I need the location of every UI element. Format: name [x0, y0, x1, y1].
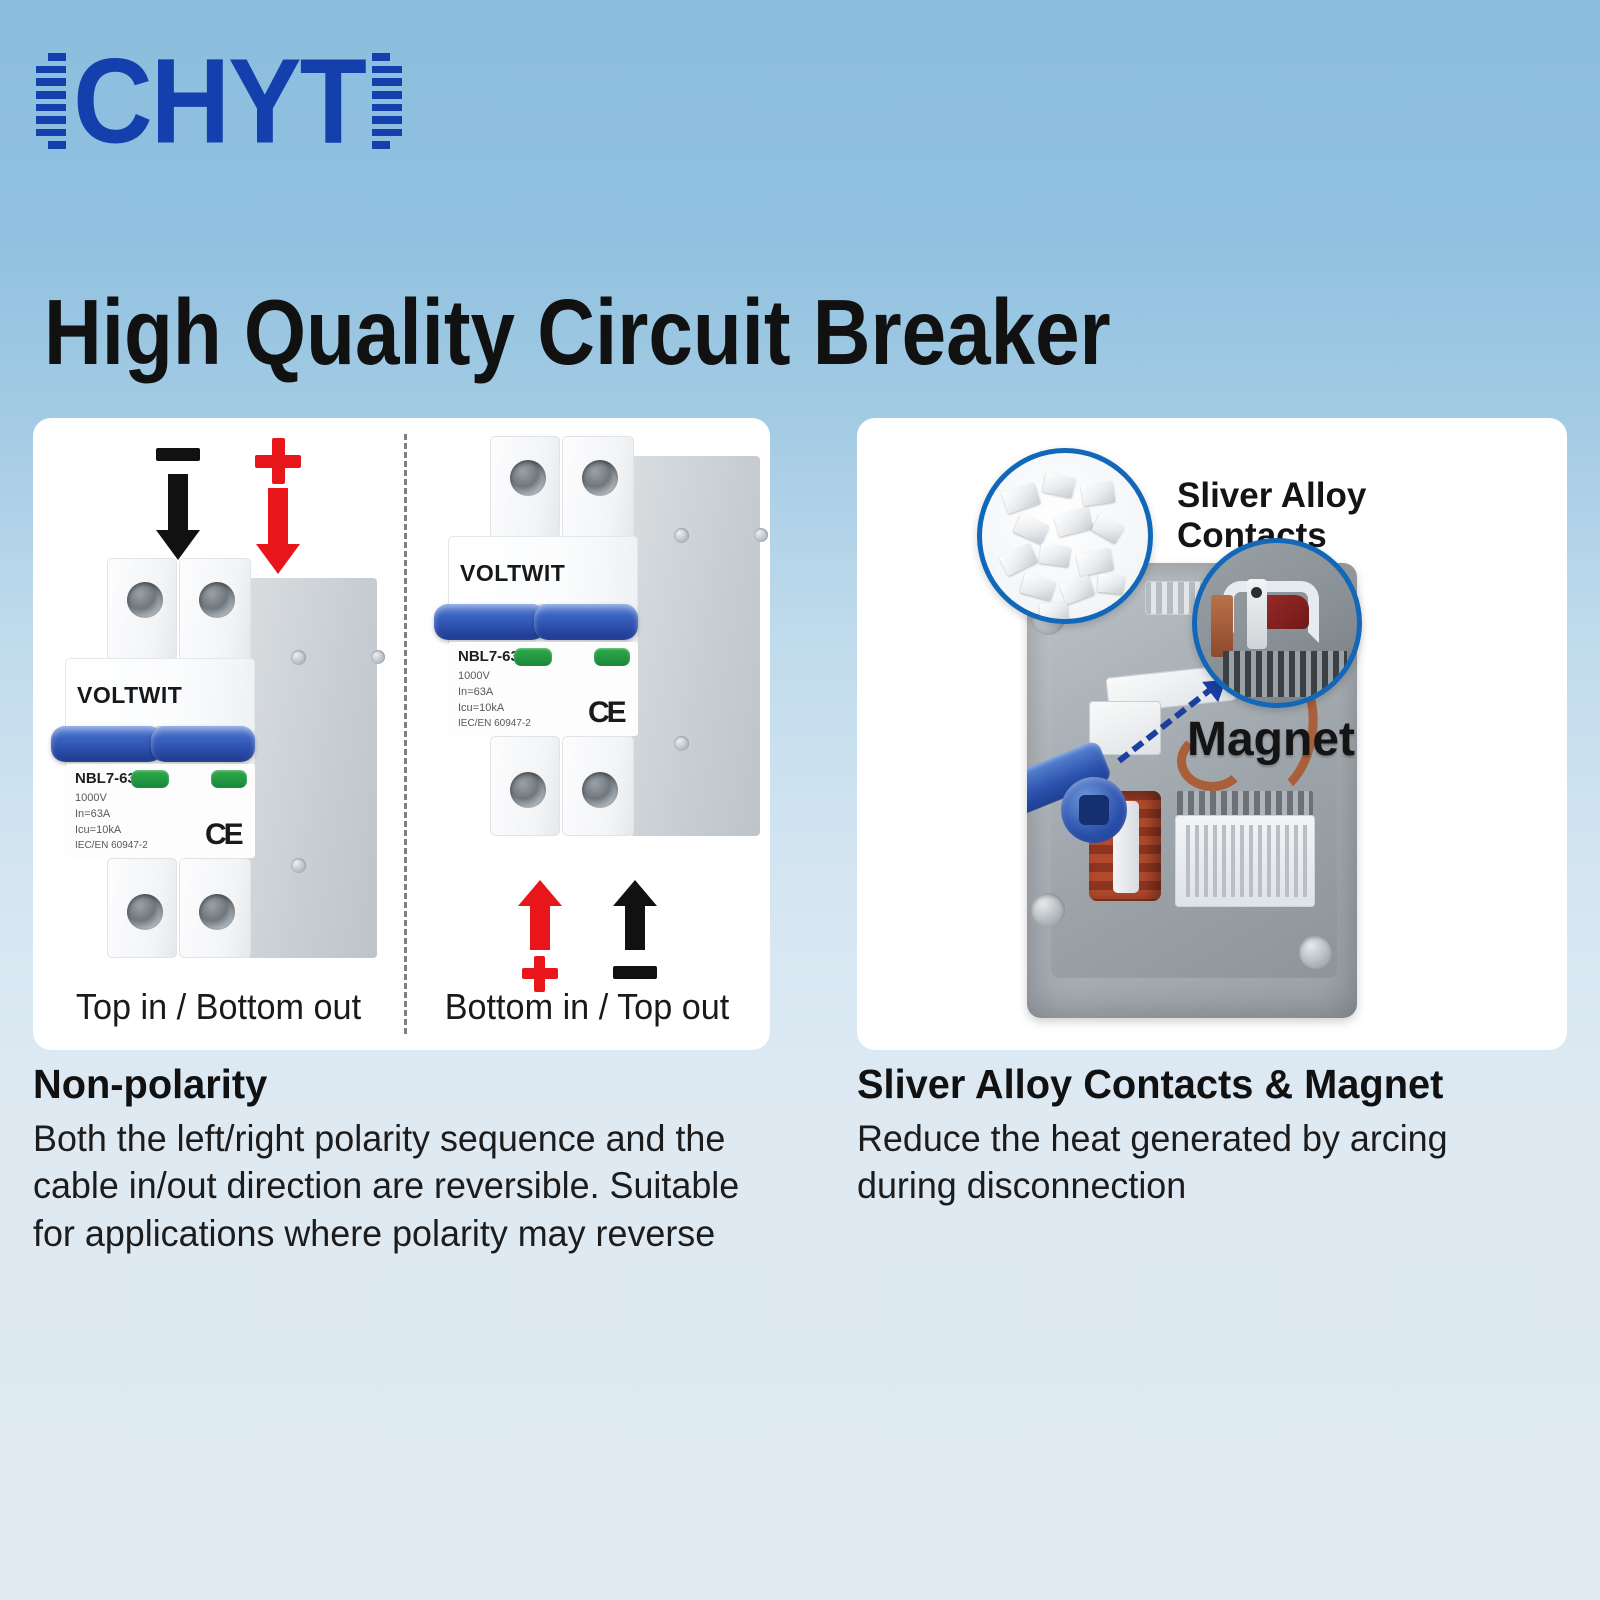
toggle-pivot-icon	[1061, 777, 1127, 843]
product-label-b: NBL7-63 1000V In=63A Icu=10kA IEC/EN 609…	[448, 642, 638, 736]
callout-label-magnet: Magnet	[1187, 712, 1355, 767]
contacts-magnet-illustration-card: Sliver Alloy Contacts Magnet	[857, 418, 1567, 1050]
breaker-unit-a: VOLTWIT NBL7-63 1000V In=63A Icu=10kA IE…	[55, 558, 385, 978]
arrow-up-black-b	[613, 880, 657, 950]
caption-top-in-bottom-out: Top in / Bottom out	[42, 986, 394, 1028]
ce-mark-b: CE	[588, 696, 624, 730]
polarity-sign-minus-b	[613, 966, 657, 979]
feature-body-contacts-magnet: Reduce the heat generated by arcing duri…	[857, 1115, 1536, 1210]
product-brand-a: VOLTWIT	[77, 682, 182, 709]
panel-divider	[404, 434, 407, 1034]
callout-magnet	[1192, 538, 1362, 708]
status-indicator-window-b2	[594, 648, 630, 666]
arrow-up-red-b	[518, 880, 562, 950]
feature-contacts-magnet: Sliver Alloy Contacts & Magnet Reduce th…	[857, 1062, 1557, 1210]
product-brand-b: VOLTWIT	[460, 560, 565, 587]
breaker-unit-b: VOLTWIT NBL7-63 1000V In=63A Icu=10kA IE…	[438, 436, 768, 856]
status-indicator-window-a1	[131, 770, 169, 788]
status-indicator-window-a2	[211, 770, 247, 788]
brand-logo: CHYT	[36, 46, 402, 156]
polarity-sign-minus-a	[156, 448, 200, 461]
feature-body-non-polarity: Both the left/right polarity sequence an…	[33, 1115, 790, 1257]
ce-mark-a: CE	[205, 818, 241, 852]
logo-wordmark: CHYT	[63, 41, 375, 162]
page-title: High Quality Circuit Breaker	[44, 286, 1346, 379]
callout-sliver-alloy-contacts	[977, 448, 1153, 624]
logo-bars-left-icon	[36, 53, 66, 149]
feature-title-non-polarity: Non-polarity	[33, 1062, 790, 1107]
arrow-down-black-a	[156, 474, 200, 560]
logo-bars-right-icon	[372, 53, 402, 149]
caption-bottom-in-top-out: Bottom in / Top out	[413, 986, 761, 1028]
feature-non-polarity: Non-polarity Both the left/right polarit…	[33, 1062, 813, 1257]
status-indicator-window-b1	[514, 648, 552, 666]
non-polarity-illustration-card: VOLTWIT NBL7-63 1000V In=63A Icu=10kA IE…	[33, 418, 770, 1050]
product-label-a: NBL7-63 1000V In=63A Icu=10kA IEC/EN 609…	[65, 764, 255, 858]
polarity-sign-plus-a	[255, 438, 301, 484]
feature-title-contacts-magnet: Sliver Alloy Contacts & Magnet	[857, 1062, 1536, 1107]
